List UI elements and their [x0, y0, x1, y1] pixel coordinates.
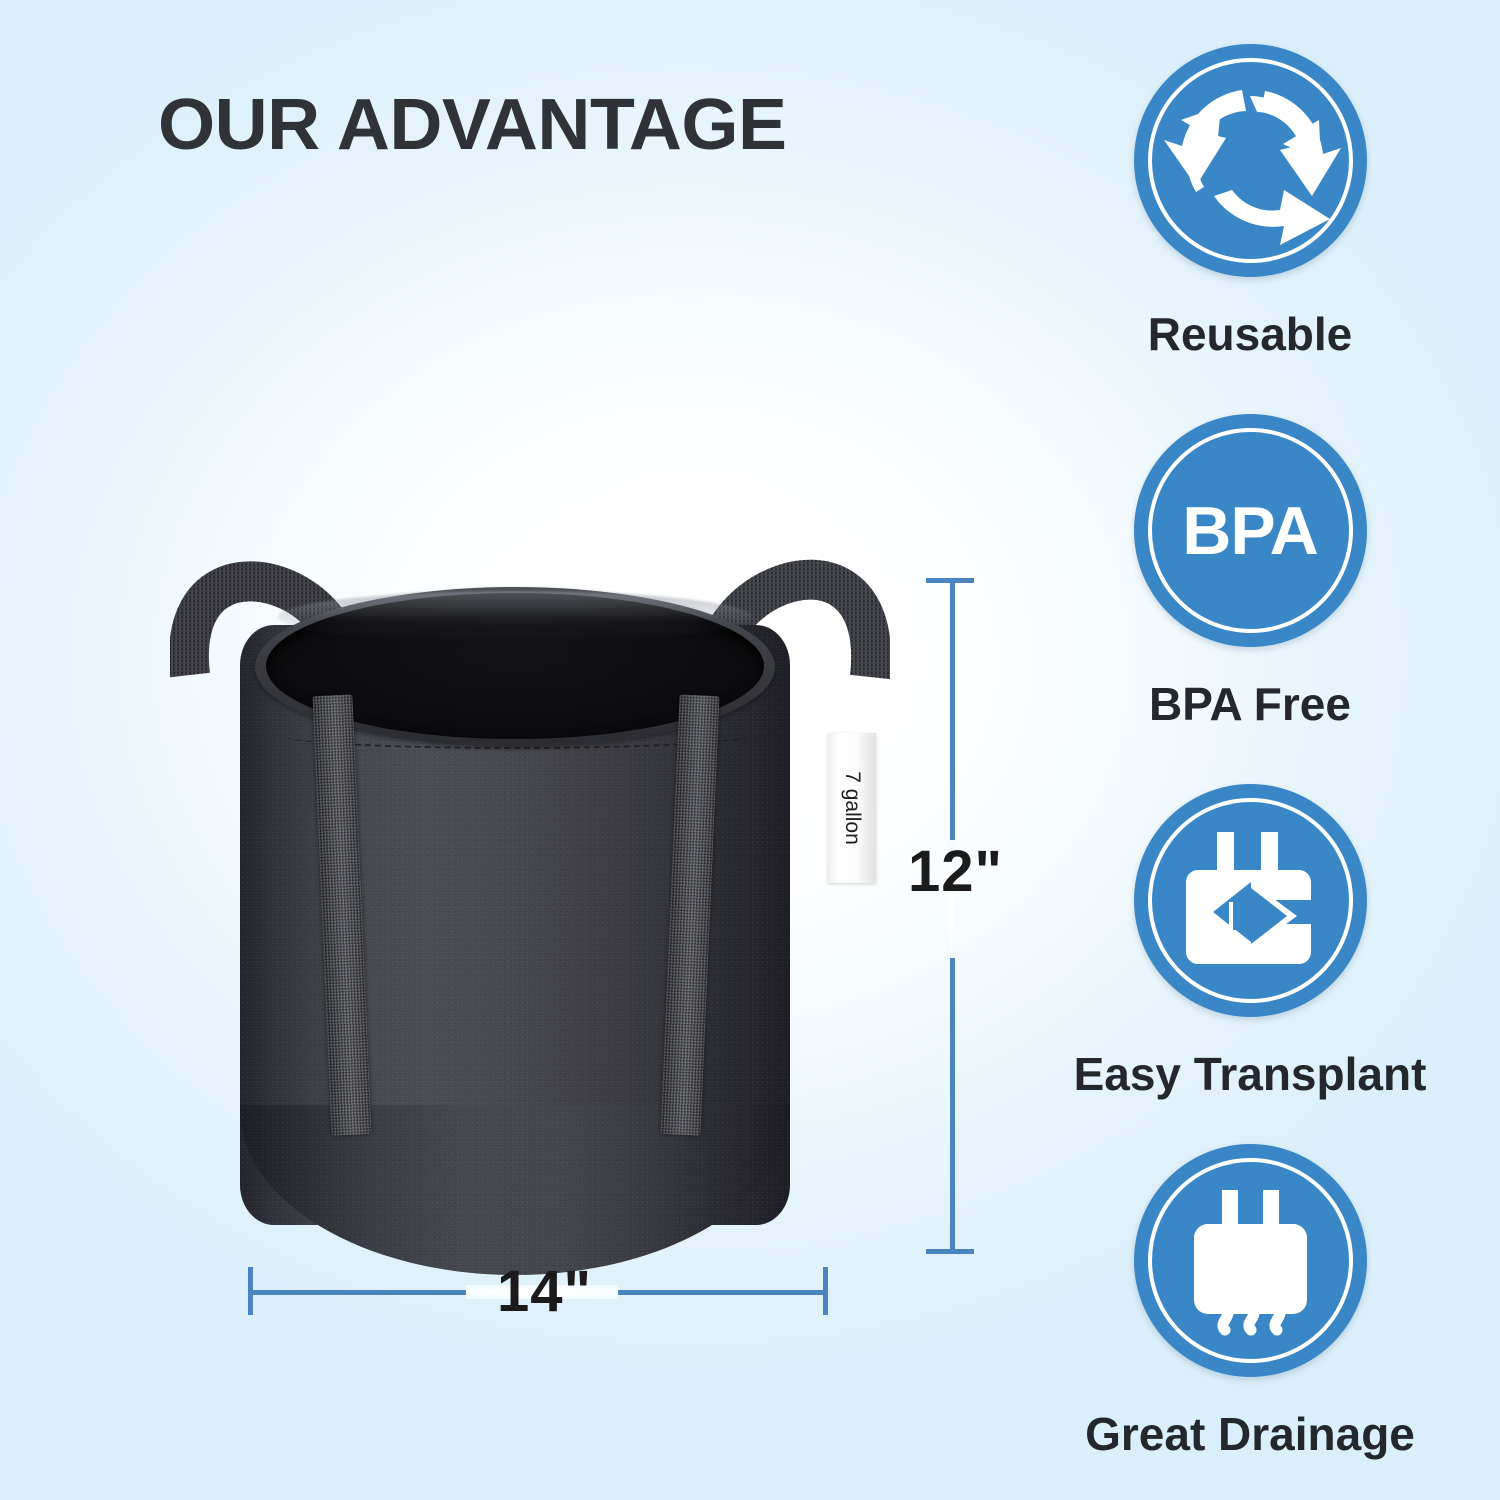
dimension-label-height: 12" — [908, 838, 1003, 905]
feature-list: Reusable BPA BPA Free — [1015, 44, 1485, 1474]
rim-highlight — [278, 591, 752, 643]
great-drainage-icon — [1134, 1144, 1367, 1377]
feature-great-drainage[interactable]: Great Drainage — [1015, 1144, 1485, 1461]
dimension-line-height — [947, 578, 955, 1254]
size-tag-label: 7 gallon — [840, 771, 864, 845]
product-image-grow-bag — [170, 545, 890, 1265]
easy-transplant-icon — [1134, 784, 1367, 1017]
size-tag: 7 gallon — [828, 733, 876, 883]
infographic-canvas: OUR ADVANTAGE — [0, 0, 1500, 1500]
feature-label: Great Drainage — [1015, 1407, 1485, 1461]
bpa-badge-text: BPA — [1134, 414, 1367, 647]
feature-reusable[interactable]: Reusable — [1015, 44, 1485, 361]
dimension-label-width: 14" — [497, 1258, 592, 1325]
feature-label: Easy Transplant — [1015, 1047, 1485, 1101]
page-title: OUR ADVANTAGE — [158, 84, 786, 166]
feature-label: Reusable — [1015, 307, 1485, 361]
felt-texture-bottom — [240, 1105, 790, 1275]
bag-bottom — [240, 1105, 790, 1275]
feature-label: BPA Free — [1015, 677, 1485, 731]
bpa-free-icon: BPA — [1134, 414, 1367, 647]
feature-bpa-free[interactable]: BPA BPA Free — [1015, 414, 1485, 731]
feature-easy-transplant[interactable]: Easy Transplant — [1015, 784, 1485, 1101]
recycle-icon — [1134, 44, 1367, 277]
